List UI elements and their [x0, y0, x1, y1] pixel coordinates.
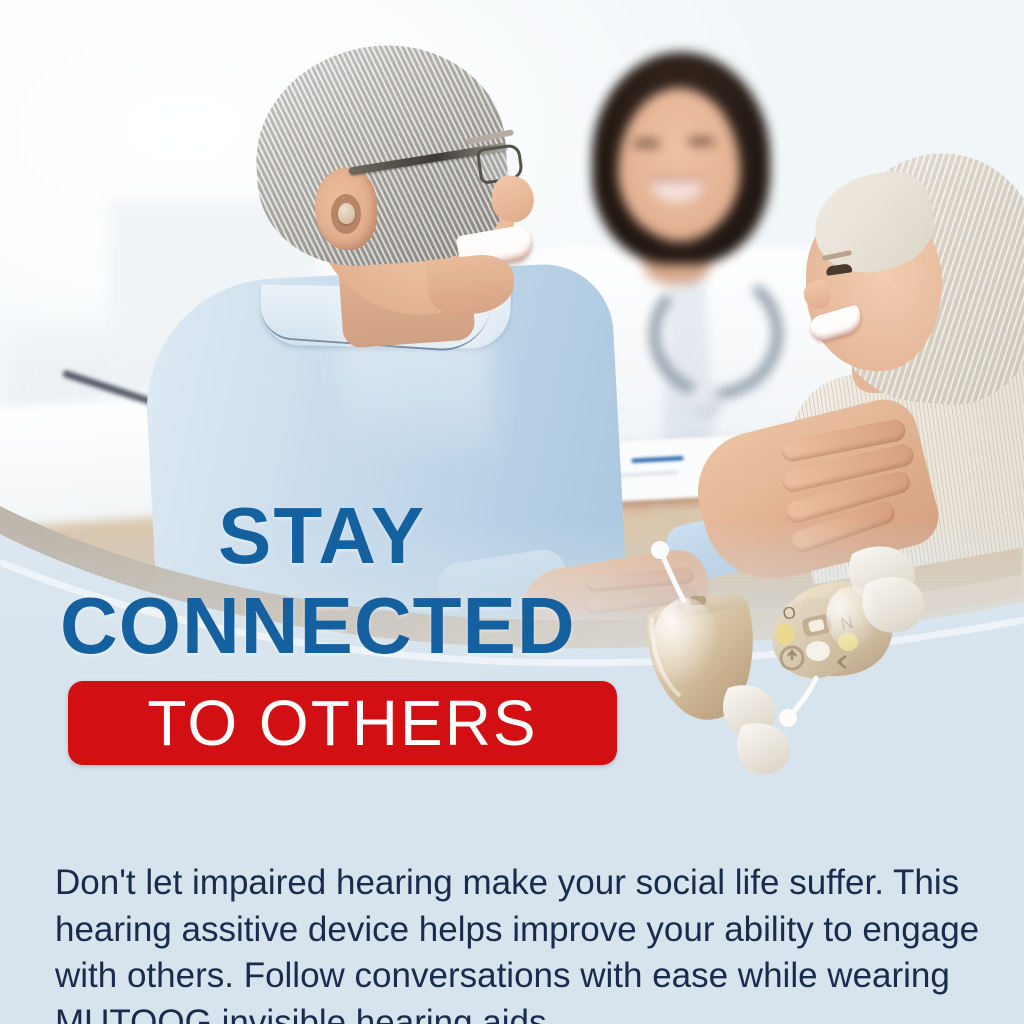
stethoscope-bell: [688, 384, 722, 418]
doctor-eye-left: [634, 140, 660, 147]
cord-handle-right: [779, 709, 797, 727]
vent-port-right: [806, 641, 830, 661]
ad-creative: STAY CONNECTED TO OTHERS: [0, 0, 1024, 1024]
hearing-aid-left: [647, 541, 790, 775]
battery-contact-left: [776, 623, 794, 645]
headline-line-2: CONNECTED: [60, 586, 576, 666]
hearing-aid-right: O N: [765, 546, 925, 727]
clipboard-line-2: [631, 456, 683, 463]
cord-handle-left: [651, 541, 669, 559]
headline-line-1: STAY: [218, 496, 426, 576]
shell-gloss-left: [652, 598, 720, 694]
body-copy: Don't let impaired hearing make your soc…: [55, 860, 980, 1024]
headline-banner: TO OTHERS: [68, 681, 617, 765]
ear-dome-left-lower: [737, 723, 790, 774]
worn-hearing-aid-icon: [338, 203, 355, 224]
hearing-aid-product-group: O N: [620, 520, 950, 800]
removal-cord-right: [792, 678, 816, 714]
doctor-eye-right: [688, 138, 714, 145]
headline-banner-label: TO OTHERS: [68, 681, 617, 765]
